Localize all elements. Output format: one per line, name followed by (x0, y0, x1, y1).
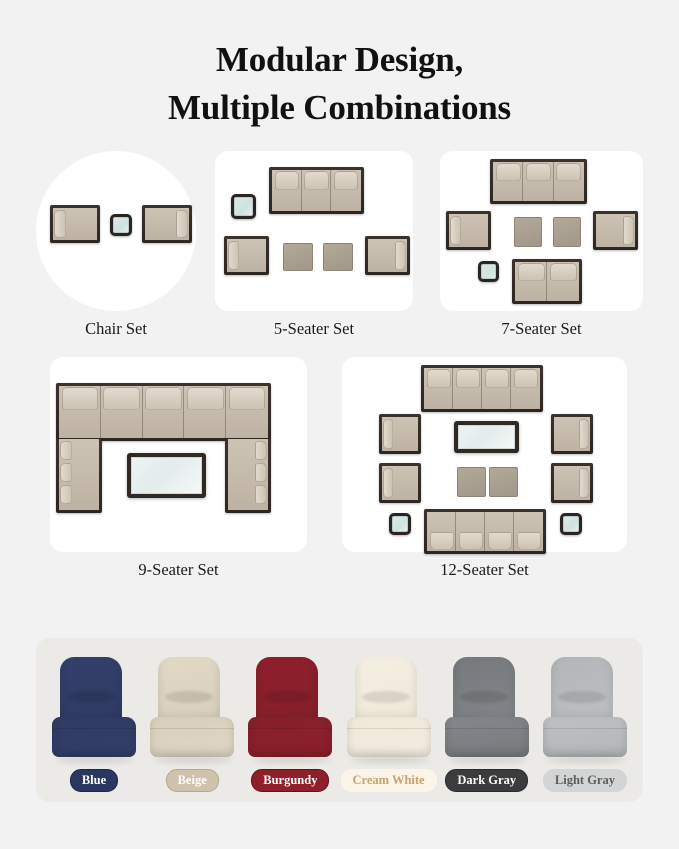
coffee-table (454, 421, 519, 453)
cushion-seat (445, 717, 529, 757)
sofa-back-cushion (526, 163, 551, 181)
color-name-pill[interactable]: Dark Gray (445, 769, 528, 792)
color-swatch-light-gray[interactable]: Light Gray (537, 652, 633, 792)
sofa-back-cushion (485, 369, 509, 388)
color-swatch-list: BlueBeigeBurgundyCream WhiteDark GrayLig… (36, 638, 643, 802)
cushion-preview (244, 657, 336, 761)
coffee-table-glass (458, 425, 515, 449)
sectional-back-cushion (255, 463, 267, 482)
set-configurations: Chair Set5-Seater Set7-Seater Set 9-Seat… (0, 151, 679, 573)
sofa-module (424, 509, 546, 554)
chair-back-cushion (383, 419, 393, 449)
set-label: Chair Set (36, 319, 196, 339)
set-label: 12-Seater Set (342, 560, 627, 580)
sectional-back-cushion (60, 485, 72, 504)
ottoman-module (514, 217, 542, 247)
side-table-glass (481, 264, 496, 279)
chair-back-cushion (383, 468, 393, 498)
set-row-bottom: 9-Seater Set12-Seater Set (0, 357, 679, 573)
side-table (560, 513, 582, 535)
sofa-back-cushion (556, 163, 581, 181)
chair-module (593, 211, 638, 250)
set-card-5-seater-set[interactable] (215, 151, 413, 311)
title-line-2: Multiple Combinations (0, 84, 679, 132)
coffee-table-glass (131, 457, 202, 494)
color-swatch-beige[interactable]: Beige (144, 652, 240, 792)
set-card-9-seater-set[interactable] (50, 357, 307, 552)
cushion-preview (146, 657, 238, 761)
cushion-seat (248, 717, 332, 757)
side-table-glass (113, 217, 129, 233)
sofa-back-cushion (496, 163, 521, 181)
chair-back-cushion (579, 419, 589, 449)
cushion-preview (539, 657, 631, 761)
cushion-back (158, 657, 220, 723)
set-diagram (50, 357, 307, 552)
sofa-back-cushion (103, 387, 140, 410)
color-name-pill[interactable]: Blue (70, 769, 118, 792)
ottoman-module (553, 217, 581, 247)
sofa-back-cushion (456, 369, 480, 388)
side-table (478, 261, 499, 282)
chair-back-cushion (176, 210, 188, 238)
sofa-module (490, 159, 587, 204)
sofa-back-cushion (145, 387, 182, 410)
page-title: Modular Design, Multiple Combinations (0, 0, 679, 133)
side-table-glass (563, 516, 579, 532)
cushion-back (355, 657, 417, 723)
sofa-back-cushion (550, 263, 577, 281)
side-table (389, 513, 411, 535)
sofa-back-cushion (488, 532, 512, 550)
chair-back-cushion (395, 241, 406, 270)
set-card-12-seater-set[interactable] (342, 357, 627, 552)
chair-back-cushion (623, 216, 634, 245)
sofa-module (269, 167, 364, 214)
sofa-back-cushion (334, 171, 359, 190)
chair-module (379, 414, 421, 454)
cushion-seat (150, 717, 234, 757)
chair-module (446, 211, 491, 250)
ottoman-module (283, 243, 313, 271)
set-diagram (215, 151, 413, 311)
sofa-back-cushion (427, 369, 451, 388)
chair-module (50, 205, 100, 243)
cushion-back (453, 657, 515, 723)
color-name-pill[interactable]: Burgundy (251, 769, 329, 792)
sofa-back-cushion (459, 532, 483, 550)
side-table (231, 194, 256, 219)
chair-back-cushion (579, 468, 589, 498)
side-table (110, 214, 132, 236)
coffee-table (127, 453, 206, 498)
color-swatch-blue[interactable]: Blue (46, 652, 142, 792)
color-swatch-cream-white[interactable]: Cream White (341, 652, 437, 792)
chair-module (365, 236, 410, 275)
ottoman-module (457, 467, 486, 497)
sofa-back-cushion (229, 387, 266, 410)
title-line-1: Modular Design, (216, 40, 463, 79)
sectional-top-run (56, 383, 271, 441)
sectional-left-run (56, 439, 102, 513)
set-label: 5-Seater Set (215, 319, 413, 339)
chair-back-cushion (54, 210, 66, 238)
set-label: 7-Seater Set (440, 319, 643, 339)
set-diagram (440, 151, 643, 311)
sofa-back-cushion (518, 263, 545, 281)
sofa-back-cushion (304, 171, 329, 190)
chair-module (224, 236, 269, 275)
set-card-chair-set[interactable] (36, 151, 196, 311)
chair-module (142, 205, 192, 243)
ottoman-module (323, 243, 353, 271)
chair-back-cushion (228, 241, 239, 270)
infographic-page: Modular Design, Multiple Combinations Ch… (0, 0, 679, 849)
sofa-module (421, 365, 543, 412)
sofa-back-cushion (275, 171, 300, 190)
chair-module (551, 463, 593, 503)
set-card-7-seater-set[interactable] (440, 151, 643, 311)
cushion-preview (441, 657, 533, 761)
set-row-top: Chair Set5-Seater Set7-Seater Set (0, 151, 679, 347)
set-label: 9-Seater Set (50, 560, 307, 580)
sofa-module (512, 259, 582, 304)
color-swatch-dark-gray[interactable]: Dark Gray (439, 652, 535, 792)
sectional-back-cushion (255, 441, 267, 460)
cushion-preview (343, 657, 435, 761)
sofa-back-cushion (517, 532, 541, 550)
color-options-panel: BlueBeigeBurgundyCream WhiteDark GrayLig… (36, 638, 643, 802)
cushion-preview (48, 657, 140, 761)
cushion-seat (347, 717, 431, 757)
sofa-back-cushion (62, 387, 99, 410)
color-swatch-burgundy[interactable]: Burgundy (242, 652, 338, 792)
chair-back-cushion (450, 216, 461, 245)
set-diagram (342, 357, 627, 552)
sofa-back-cushion (514, 369, 538, 388)
cushion-back (60, 657, 122, 723)
chair-module (551, 414, 593, 454)
chair-module (379, 463, 421, 503)
ottoman-module (489, 467, 518, 497)
sectional-back-cushion (60, 441, 72, 460)
cushion-seat (52, 717, 136, 757)
cushion-back (256, 657, 318, 723)
cushion-back (551, 657, 613, 723)
side-table-glass (234, 197, 253, 216)
sectional-back-cushion (60, 463, 72, 482)
sectional-back-cushion (255, 485, 267, 504)
set-diagram (36, 151, 196, 311)
color-name-pill[interactable]: Beige (166, 769, 219, 792)
color-name-pill[interactable]: Light Gray (543, 769, 627, 792)
sectional-right-run (225, 439, 271, 513)
color-name-pill[interactable]: Cream White (341, 769, 437, 792)
sofa-back-cushion (187, 387, 224, 410)
cushion-seat (543, 717, 627, 757)
sofa-back-cushion (430, 532, 454, 550)
side-table-glass (392, 516, 408, 532)
